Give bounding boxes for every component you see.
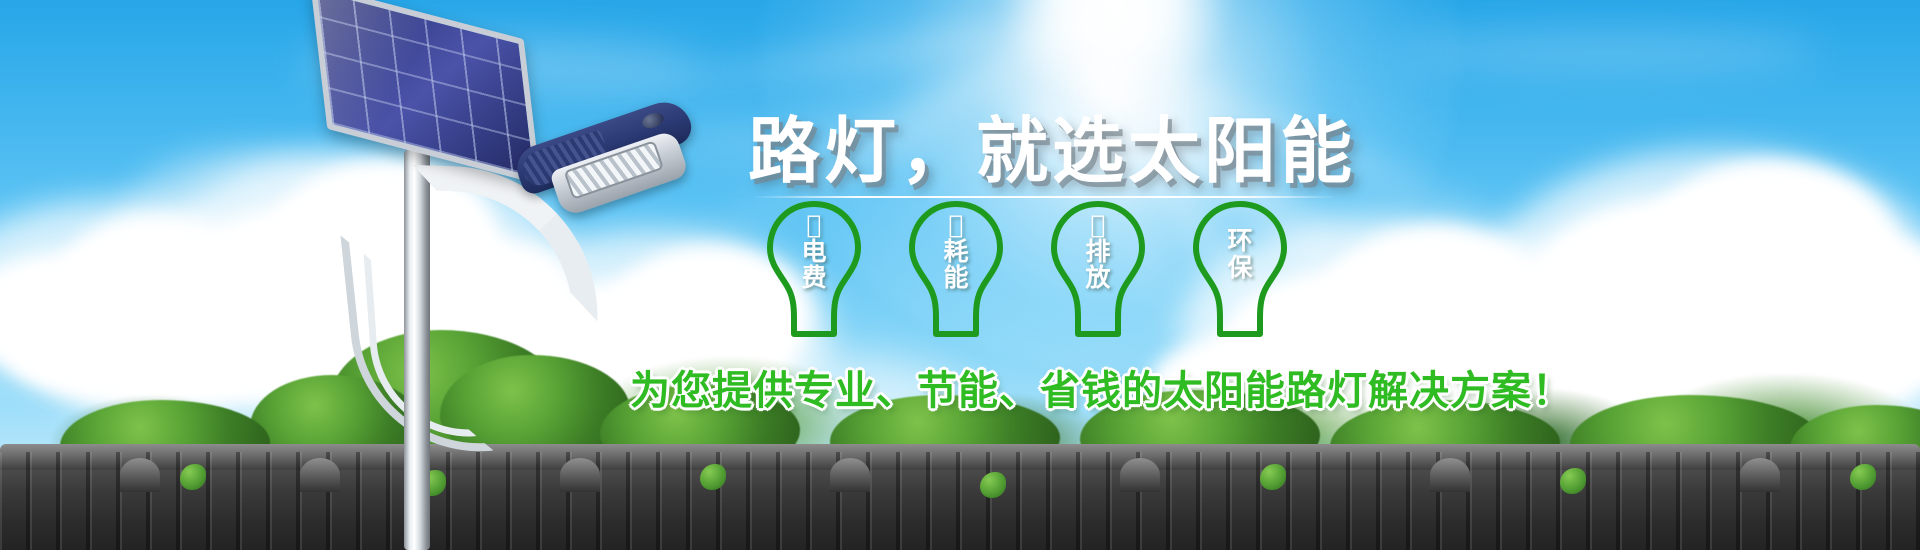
feature-badge-label-2: 费 xyxy=(801,265,826,292)
feature-badge:   排 放 xyxy=(1044,198,1152,340)
feature-badge:   电 费 xyxy=(760,198,868,340)
feature-badge-list:   电 费   耗 能   xyxy=(760,198,1294,340)
feature-badge-label-1: 耗 xyxy=(943,239,968,266)
feature-badge-zero:   xyxy=(1090,212,1105,239)
banner-content: 路灯，就选太阳能   电 费   耗 能 xyxy=(600,0,1920,550)
feature-badge-label-2: 放 xyxy=(1085,265,1110,292)
banner-headline: 路灯，就选太阳能 xyxy=(748,92,1356,197)
feature-badge-text:   电 费 xyxy=(760,212,868,292)
feature-badge-text: 环 保 xyxy=(1186,228,1294,281)
feature-badge-zero:   xyxy=(806,212,821,239)
banner-subtitle: 为您提供专业、节能、省钱的太阳能路灯解决方案！ xyxy=(630,358,1573,416)
feature-badge-label-1: 环 xyxy=(1227,228,1252,255)
feature-badge-label-2: 保 xyxy=(1227,255,1252,282)
feature-badge:   耗 能 xyxy=(902,198,1010,340)
solar-panel-sheen xyxy=(317,0,534,177)
feature-badge: 环 保 xyxy=(1186,198,1294,340)
feature-badge-text:   排 放 xyxy=(1044,212,1152,292)
feature-badge-label-1: 电 xyxy=(801,239,826,266)
solar-street-lamp-banner: 路灯，就选太阳能   电 费   耗 能 xyxy=(0,0,1920,550)
feature-badge-label-2: 能 xyxy=(943,265,968,292)
feature-badge-label-1: 排 xyxy=(1085,239,1110,266)
feature-badge-text:   耗 能 xyxy=(902,212,1010,292)
feature-badge-zero:   xyxy=(948,212,963,239)
